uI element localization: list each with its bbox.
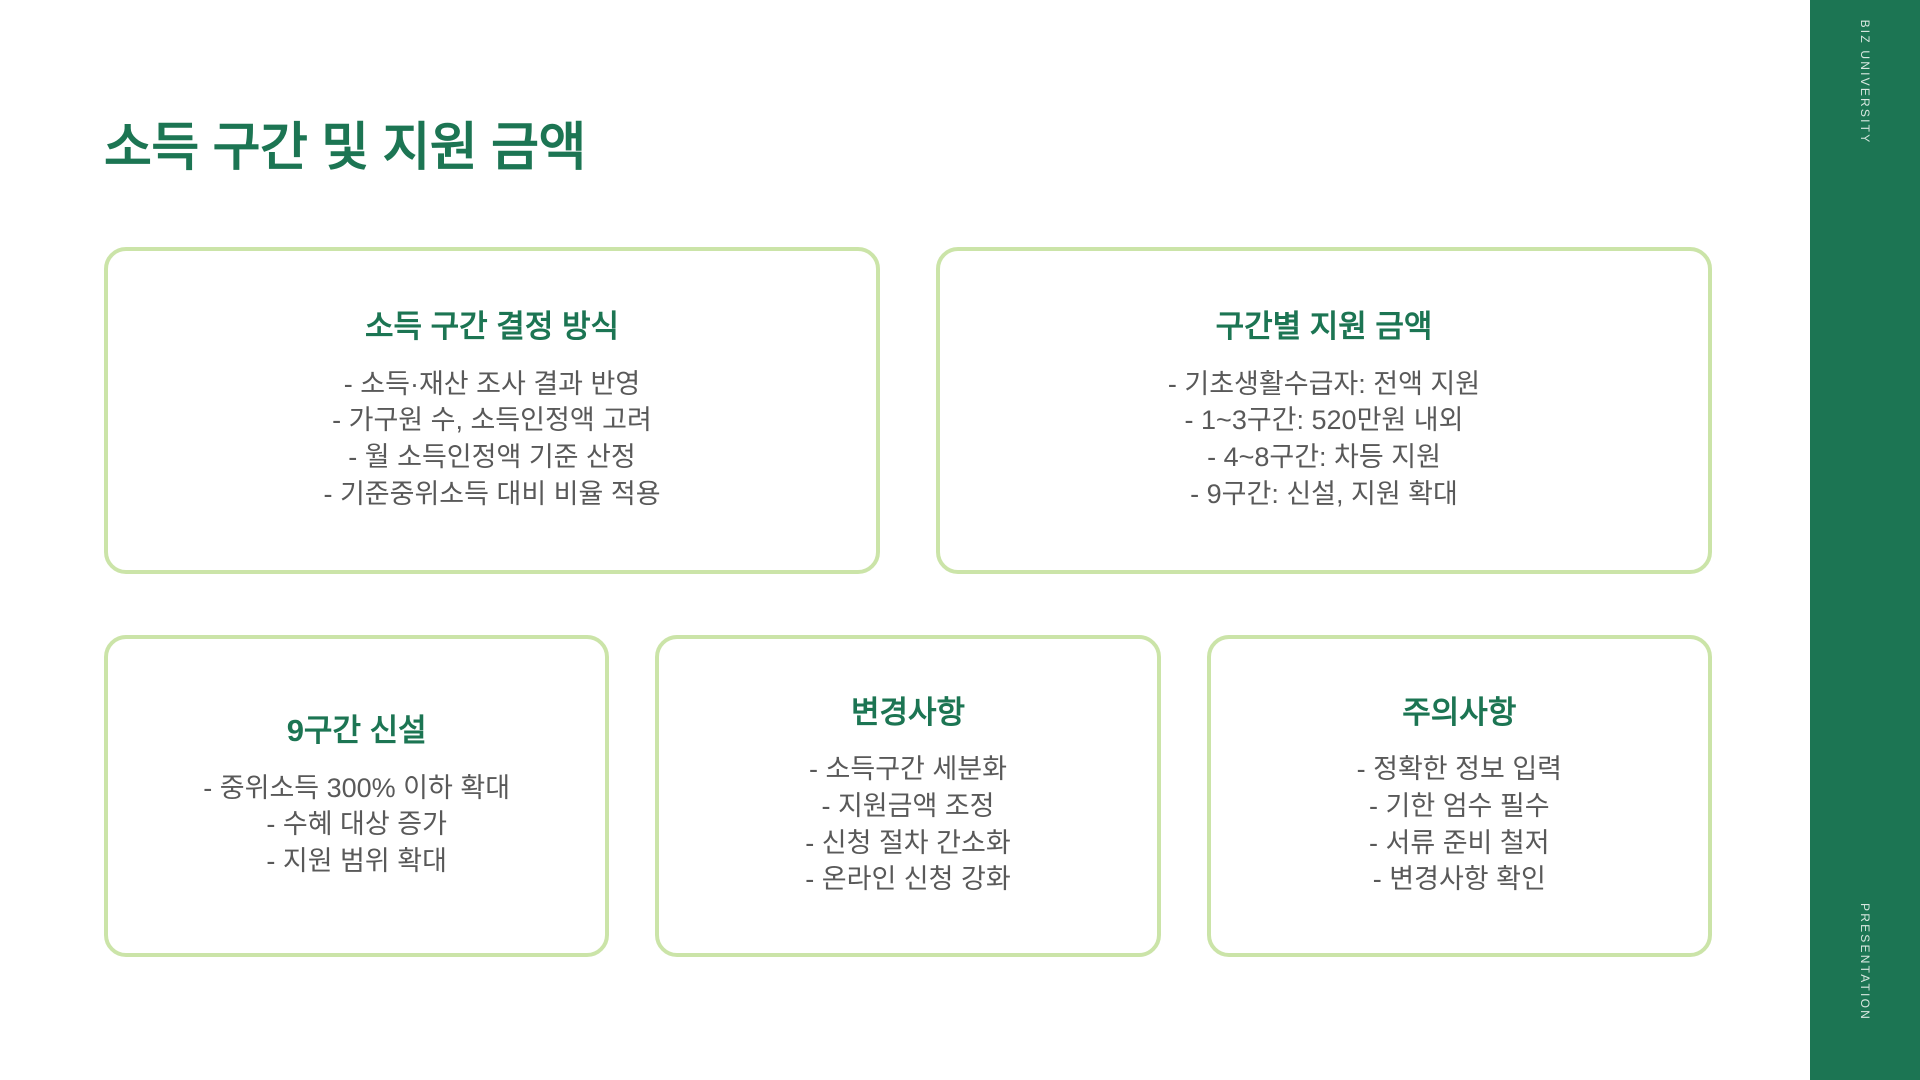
card-line: - 서류 준비 철저: [1357, 825, 1562, 862]
card-new-ninth-bracket: 9구간 신설 - 중위소득 300% 이하 확대 - 수혜 대상 증가 - 지원…: [104, 635, 609, 957]
card-cautions: 주의사항 - 정확한 정보 입력 - 기한 엄수 필수 - 서류 준비 철저 -…: [1207, 635, 1712, 957]
card-support-amount-by-bracket: 구간별 지원 금액 - 기초생활수급자: 전액 지원 - 1~3구간: 520만…: [936, 247, 1712, 574]
brand-rail-bottom-label: PRESENTATION: [1858, 903, 1872, 1021]
card-body: - 소득구간 세분화 - 지원금액 조정 - 신청 절차 간소화 - 온라인 신…: [805, 751, 1010, 898]
card-line: - 수혜 대상 증가: [203, 806, 510, 843]
card-line: - 지원금액 조정: [805, 788, 1010, 825]
card-changes: 변경사항 - 소득구간 세분화 - 지원금액 조정 - 신청 절차 간소화 - …: [655, 635, 1160, 957]
card-line: - 소득구간 세분화: [805, 751, 1010, 788]
card-line: - 기초생활수급자: 전액 지원: [1168, 366, 1480, 403]
card-line: - 변경사항 확인: [1357, 861, 1562, 898]
card-line: - 1~3구간: 520만원 내외: [1168, 402, 1480, 439]
card-title: 주의사항: [1402, 694, 1516, 731]
card-line: - 가구원 수, 소득인정액 고려: [323, 402, 660, 439]
card-line: - 4~8구간: 차등 지원: [1168, 439, 1480, 476]
card-body: - 기초생활수급자: 전액 지원 - 1~3구간: 520만원 내외 - 4~8…: [1168, 366, 1480, 513]
card-line: - 기한 엄수 필수: [1357, 788, 1562, 825]
card-line: - 기준중위소득 대비 비율 적용: [323, 476, 660, 513]
card-line: - 월 소득인정액 기준 산정: [323, 439, 660, 476]
card-title: 구간별 지원 금액: [1216, 308, 1433, 345]
brand-rail-top-label: BIZ UNIVERSITY: [1858, 20, 1872, 145]
card-income-bracket-method: 소득 구간 결정 방식 - 소득·재산 조사 결과 반영 - 가구원 수, 소득…: [104, 247, 880, 574]
card-body: - 정확한 정보 입력 - 기한 엄수 필수 - 서류 준비 철저 - 변경사항…: [1357, 751, 1562, 898]
card-line: - 지원 범위 확대: [203, 843, 510, 880]
card-title: 소득 구간 결정 방식: [365, 308, 619, 345]
card-line: - 온라인 신청 강화: [805, 861, 1010, 898]
page-title: 소득 구간 및 지원 금액: [104, 120, 586, 177]
card-title: 9구간 신설: [287, 712, 427, 749]
card-line: - 소득·재산 조사 결과 반영: [323, 366, 660, 403]
card-body: - 중위소득 300% 이하 확대 - 수혜 대상 증가 - 지원 범위 확대: [203, 770, 510, 880]
card-body: - 소득·재산 조사 결과 반영 - 가구원 수, 소득인정액 고려 - 월 소…: [323, 366, 660, 513]
brand-rail: BIZ UNIVERSITY PRESENTATION: [1810, 0, 1920, 1080]
card-grid-bottom-row: 9구간 신설 - 중위소득 300% 이하 확대 - 수혜 대상 증가 - 지원…: [104, 635, 1712, 957]
card-line: - 신청 절차 간소화: [805, 825, 1010, 862]
card-line: - 9구간: 신설, 지원 확대: [1168, 476, 1480, 513]
card-line: - 중위소득 300% 이하 확대: [203, 770, 510, 807]
card-grid-top-row: 소득 구간 결정 방식 - 소득·재산 조사 결과 반영 - 가구원 수, 소득…: [104, 247, 1712, 574]
card-title: 변경사항: [851, 694, 965, 731]
card-line: - 정확한 정보 입력: [1357, 751, 1562, 788]
